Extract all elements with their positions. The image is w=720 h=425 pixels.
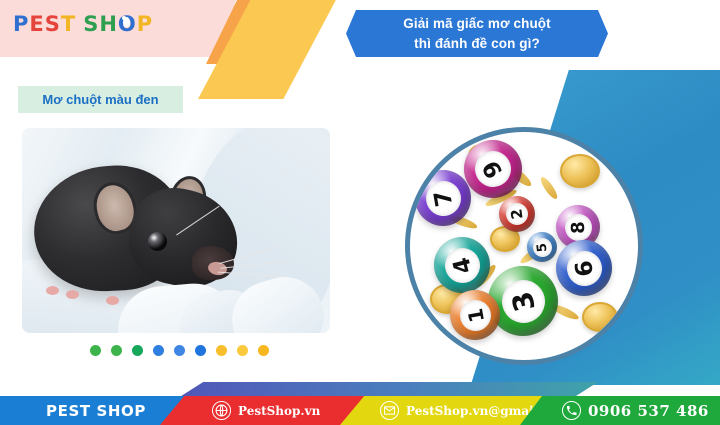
footer-website-text: PestShop.vn (238, 404, 320, 418)
headline-banner: Giải mã giấc mơ chuột thì đánh đề con gì… (346, 10, 608, 57)
lottery-ball-number: 2 (505, 202, 530, 227)
lottery-ball-number: 5 (532, 237, 553, 258)
gold-ribbon (538, 175, 559, 201)
logo-letter: T (61, 12, 76, 36)
carousel-dot[interactable] (258, 345, 269, 356)
carousel-dot[interactable] (174, 345, 185, 356)
carousel-dot[interactable] (132, 345, 143, 356)
lottery-balls-circle: 972854631 (405, 127, 643, 365)
logo-letter: P (137, 12, 153, 36)
lottery-ball-number: 6 (564, 248, 604, 288)
lottery-ball: 1 (450, 290, 500, 340)
footer-brand-label: PEST SHOP (46, 402, 146, 420)
section-label: Mơ chuột màu đen (18, 86, 183, 113)
footer-bar: PEST SHOP PestShop.vn PestShop.vn@gma (0, 396, 720, 425)
mouse-paw (66, 290, 79, 299)
lottery-ball-number: 8 (564, 213, 592, 241)
headline-line-2: thì đánh đề con gì? (414, 34, 540, 53)
mouse-icon (123, 17, 130, 27)
globe-icon (212, 401, 231, 420)
logo-letter: S (83, 12, 99, 36)
logo-letter: H (99, 12, 118, 36)
lottery-ball-number: 1 (457, 297, 493, 333)
phone-icon (562, 401, 581, 420)
lottery-ball-number: 3 (497, 275, 549, 327)
lottery-ball: 9 (464, 140, 522, 198)
logo-letter: P (13, 12, 29, 36)
footer-website[interactable]: PestShop.vn (212, 401, 320, 420)
carousel-dot[interactable] (216, 345, 227, 356)
footer-phone[interactable]: 0906 537 486 (562, 401, 709, 420)
mouse-photo (22, 128, 330, 333)
footer-phone-text: 0906 537 486 (588, 402, 709, 420)
logo-letter: E (29, 12, 44, 36)
footer-phone-segment[interactable]: 0906 537 486 (520, 396, 720, 425)
lottery-ball: 7 (415, 170, 471, 226)
logo-letter: S (45, 12, 61, 36)
lottery-ball: 3 (488, 266, 558, 336)
carousel-dot[interactable] (90, 345, 101, 356)
lottery-ball-number: 7 (423, 178, 464, 219)
headline-line-1: Giải mã giấc mơ chuột (403, 14, 550, 33)
decorative-dots (90, 345, 269, 356)
lottery-ball: 2 (499, 196, 535, 232)
logo-letter: O (118, 12, 137, 36)
gold-coin (582, 302, 618, 332)
poster-canvas: PESTSHOP Giải mã giấc mơ chuột thì đánh … (0, 0, 720, 425)
lottery-ball: 4 (434, 237, 490, 293)
lottery-ball: 6 (556, 240, 612, 296)
mouse-paw (46, 286, 59, 295)
carousel-dot[interactable] (195, 345, 206, 356)
lottery-ball-number: 9 (469, 145, 518, 194)
carousel-dot[interactable] (111, 345, 122, 356)
brand-logo: PESTSHOP (13, 12, 153, 36)
lottery-ball-number: 4 (441, 244, 483, 286)
gold-coin (560, 154, 600, 188)
mouse-paw (106, 296, 119, 305)
carousel-dot[interactable] (153, 345, 164, 356)
lottery-ball: 5 (527, 232, 557, 262)
mouse-eye (148, 232, 167, 251)
envelope-icon (380, 401, 399, 420)
carousel-dot[interactable] (237, 345, 248, 356)
